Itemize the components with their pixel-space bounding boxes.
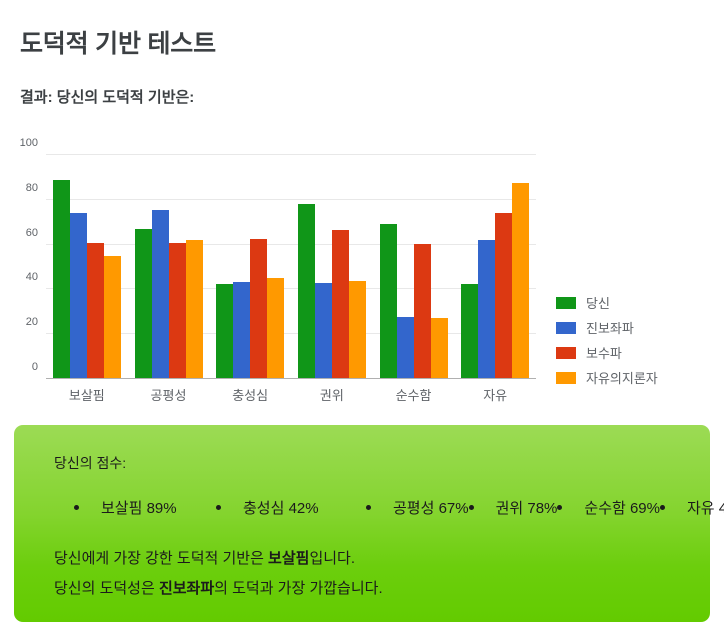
legend-item[interactable]: 진보좌파: [556, 315, 658, 340]
legend-item[interactable]: 보수파: [556, 340, 658, 365]
chart-x-tick-label: 충성심: [232, 385, 268, 404]
legend-item-label: 진보좌파: [586, 318, 634, 337]
chart-x-tick-label: 순수함: [396, 385, 432, 404]
chart-bar[interactable]: [298, 204, 315, 378]
bar-chart: 020406080100 보살핌공평성충성심권위순수함자유 당신진보좌파보수파자…: [0, 140, 724, 400]
scores-list: 보살핌 89%충성심 42%공평성 67%권위 78%순수함 69%자유 42%: [74, 491, 684, 523]
chart-bar[interactable]: [250, 239, 267, 378]
chart-bar[interactable]: [349, 281, 366, 378]
chart-bar-group: 보살핌: [46, 155, 128, 378]
chart-bar[interactable]: [233, 282, 250, 378]
legend-swatch-icon: [556, 347, 576, 359]
chart-bar[interactable]: [87, 243, 104, 378]
legend-swatch-icon: [556, 372, 576, 384]
chart-y-tick-label: 20: [26, 316, 38, 328]
legend-swatch-icon: [556, 322, 576, 334]
score-list-item: 순수함 69%: [557, 497, 660, 518]
page-title: 도덕적 기반 테스트: [20, 24, 216, 60]
chart-bar[interactable]: [135, 229, 152, 378]
chart-x-tick-label: 보살핌: [69, 385, 105, 404]
chart-x-axis-line: [46, 378, 536, 379]
legend-item-label: 당신: [586, 293, 610, 312]
score-label: 순수함 69%: [584, 497, 660, 518]
legend-item-label: 보수파: [586, 343, 622, 362]
scores-heading: 당신의 점수:: [54, 453, 684, 473]
score-list-item: 보살핌 89%: [74, 497, 216, 518]
summary-closest-group: 당신의 도덕성은 진보좌파의 도덕과 가장 가깝습니다.: [54, 577, 684, 598]
chart-y-tick-label: 40: [26, 271, 38, 283]
chart-bar-group: 권위: [291, 155, 373, 378]
chart-y-tick-label: 0: [32, 361, 38, 373]
legend-swatch-icon: [556, 297, 576, 309]
chart-bar[interactable]: [332, 230, 349, 378]
strongest-suffix: 입니다.: [309, 550, 355, 567]
score-label: 자유 42%: [687, 497, 724, 518]
score-list-item: 충성심 42%: [216, 497, 366, 518]
closest-suffix: 의 도덕과 가장 가깝습니다.: [214, 580, 382, 597]
result-subtitle: 결과: 당신의 도덕적 기반은:: [20, 86, 194, 107]
chart-bar-group: 자유: [454, 155, 536, 378]
chart-legend: 당신진보좌파보수파자유의지론자: [556, 290, 658, 390]
bullet-icon: [660, 505, 665, 510]
strongest-prefix: 당신에게 가장 강한 도덕적 기반은: [54, 550, 268, 567]
score-list-item: 공평성 67%: [366, 497, 469, 518]
chart-bar[interactable]: [380, 224, 397, 378]
chart-bar[interactable]: [169, 243, 186, 378]
summary-strongest-foundation: 당신에게 가장 강한 도덕적 기반은 보살핌입니다.: [54, 547, 684, 568]
chart-bar[interactable]: [267, 278, 284, 378]
chart-bar[interactable]: [104, 256, 121, 378]
result-summary-box: 당신의 점수: 보살핌 89%충성심 42%공평성 67%권위 78%순수함 6…: [14, 425, 710, 622]
chart-bar-group: 공평성: [128, 155, 210, 378]
chart-x-tick-label: 권위: [320, 385, 344, 404]
chart-bar[interactable]: [414, 244, 431, 378]
chart-bar[interactable]: [315, 283, 332, 378]
chart-bar[interactable]: [461, 284, 478, 378]
score-list-item: 자유 42%: [660, 497, 724, 518]
chart-bar[interactable]: [70, 213, 87, 378]
chart-bar[interactable]: [186, 240, 203, 378]
chart-bar[interactable]: [216, 284, 233, 378]
chart-bar[interactable]: [397, 317, 414, 378]
chart-bar[interactable]: [478, 240, 495, 378]
chart-x-tick-label: 자유: [483, 385, 507, 404]
score-list-item: 권위 78%: [469, 497, 558, 518]
chart-bar[interactable]: [431, 318, 448, 378]
closest-prefix: 당신의 도덕성은: [54, 580, 159, 597]
bullet-icon: [366, 505, 371, 510]
bullet-icon: [557, 505, 562, 510]
chart-bar[interactable]: [53, 180, 70, 378]
legend-item[interactable]: 자유의지론자: [556, 365, 658, 390]
chart-y-tick-label: 100: [20, 137, 38, 149]
closest-value: 진보좌파: [159, 580, 214, 597]
chart-x-tick-label: 공평성: [151, 385, 187, 404]
bullet-icon: [469, 505, 474, 510]
chart-y-tick-label: 80: [26, 182, 38, 194]
chart-y-tick-label: 60: [26, 227, 38, 239]
chart-bar[interactable]: [495, 213, 512, 378]
score-label: 권위 78%: [496, 497, 558, 518]
chart-bar-group: 순수함: [373, 155, 455, 378]
score-label: 공평성 67%: [393, 497, 469, 518]
chart-bar[interactable]: [512, 183, 529, 378]
bullet-icon: [74, 505, 79, 510]
chart-plot-area: 020406080100 보살핌공평성충성심권위순수함자유: [46, 155, 536, 379]
strongest-value: 보살핌: [268, 550, 309, 567]
chart-bar-groups: 보살핌공평성충성심권위순수함자유: [46, 155, 536, 378]
chart-bar-group: 충성심: [209, 155, 291, 378]
score-label: 보살핌 89%: [101, 497, 177, 518]
score-label: 충성심 42%: [243, 497, 319, 518]
bullet-icon: [216, 505, 221, 510]
legend-item-label: 자유의지론자: [586, 368, 658, 387]
legend-item[interactable]: 당신: [556, 290, 658, 315]
chart-bar[interactable]: [152, 210, 169, 378]
